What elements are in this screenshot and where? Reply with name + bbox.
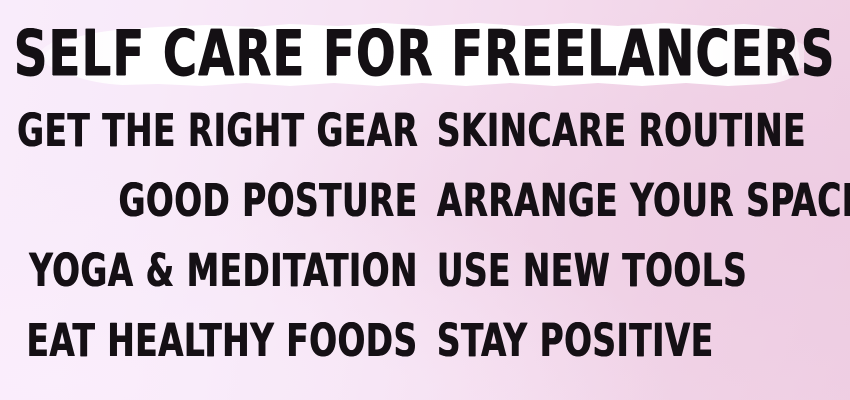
tips-list: GET THE RIGHT GEAR SKINCARE ROUTINE GOOD… xyxy=(0,96,850,396)
title-container: SELF CARE FOR FREELANCERS xyxy=(0,20,850,88)
poster-title: SELF CARE FOR FREELANCERS xyxy=(14,22,836,86)
tip-item: YOGA & MEDITATION xyxy=(0,236,422,306)
tip-item: GET THE RIGHT GEAR xyxy=(0,96,422,166)
tip-label: ARRANGE YOUR SPACE xyxy=(437,178,850,223)
tip-label: YOGA & MEDITATION xyxy=(29,248,418,293)
tip-label: STAY POSITIVE xyxy=(437,318,714,363)
tip-item: STAY POSITIVE xyxy=(422,306,850,376)
tip-label: GET THE RIGHT GEAR xyxy=(17,108,418,153)
tip-label: USE NEW TOOLS xyxy=(437,248,747,293)
tip-item: USE NEW TOOLS xyxy=(422,236,850,306)
poster-canvas: SELF CARE FOR FREELANCERS GET THE RIGHT … xyxy=(0,0,850,400)
tip-item: EAT HEALTHY FOODS xyxy=(0,306,422,376)
tip-item: GOOD POSTURE xyxy=(0,166,422,236)
tip-label: GOOD POSTURE xyxy=(119,178,418,223)
tip-label: SKINCARE ROUTINE xyxy=(437,108,806,153)
tip-item: ARRANGE YOUR SPACE xyxy=(422,166,850,236)
tip-item: SKINCARE ROUTINE xyxy=(422,96,850,166)
tip-label: EAT HEALTHY FOODS xyxy=(27,318,418,363)
